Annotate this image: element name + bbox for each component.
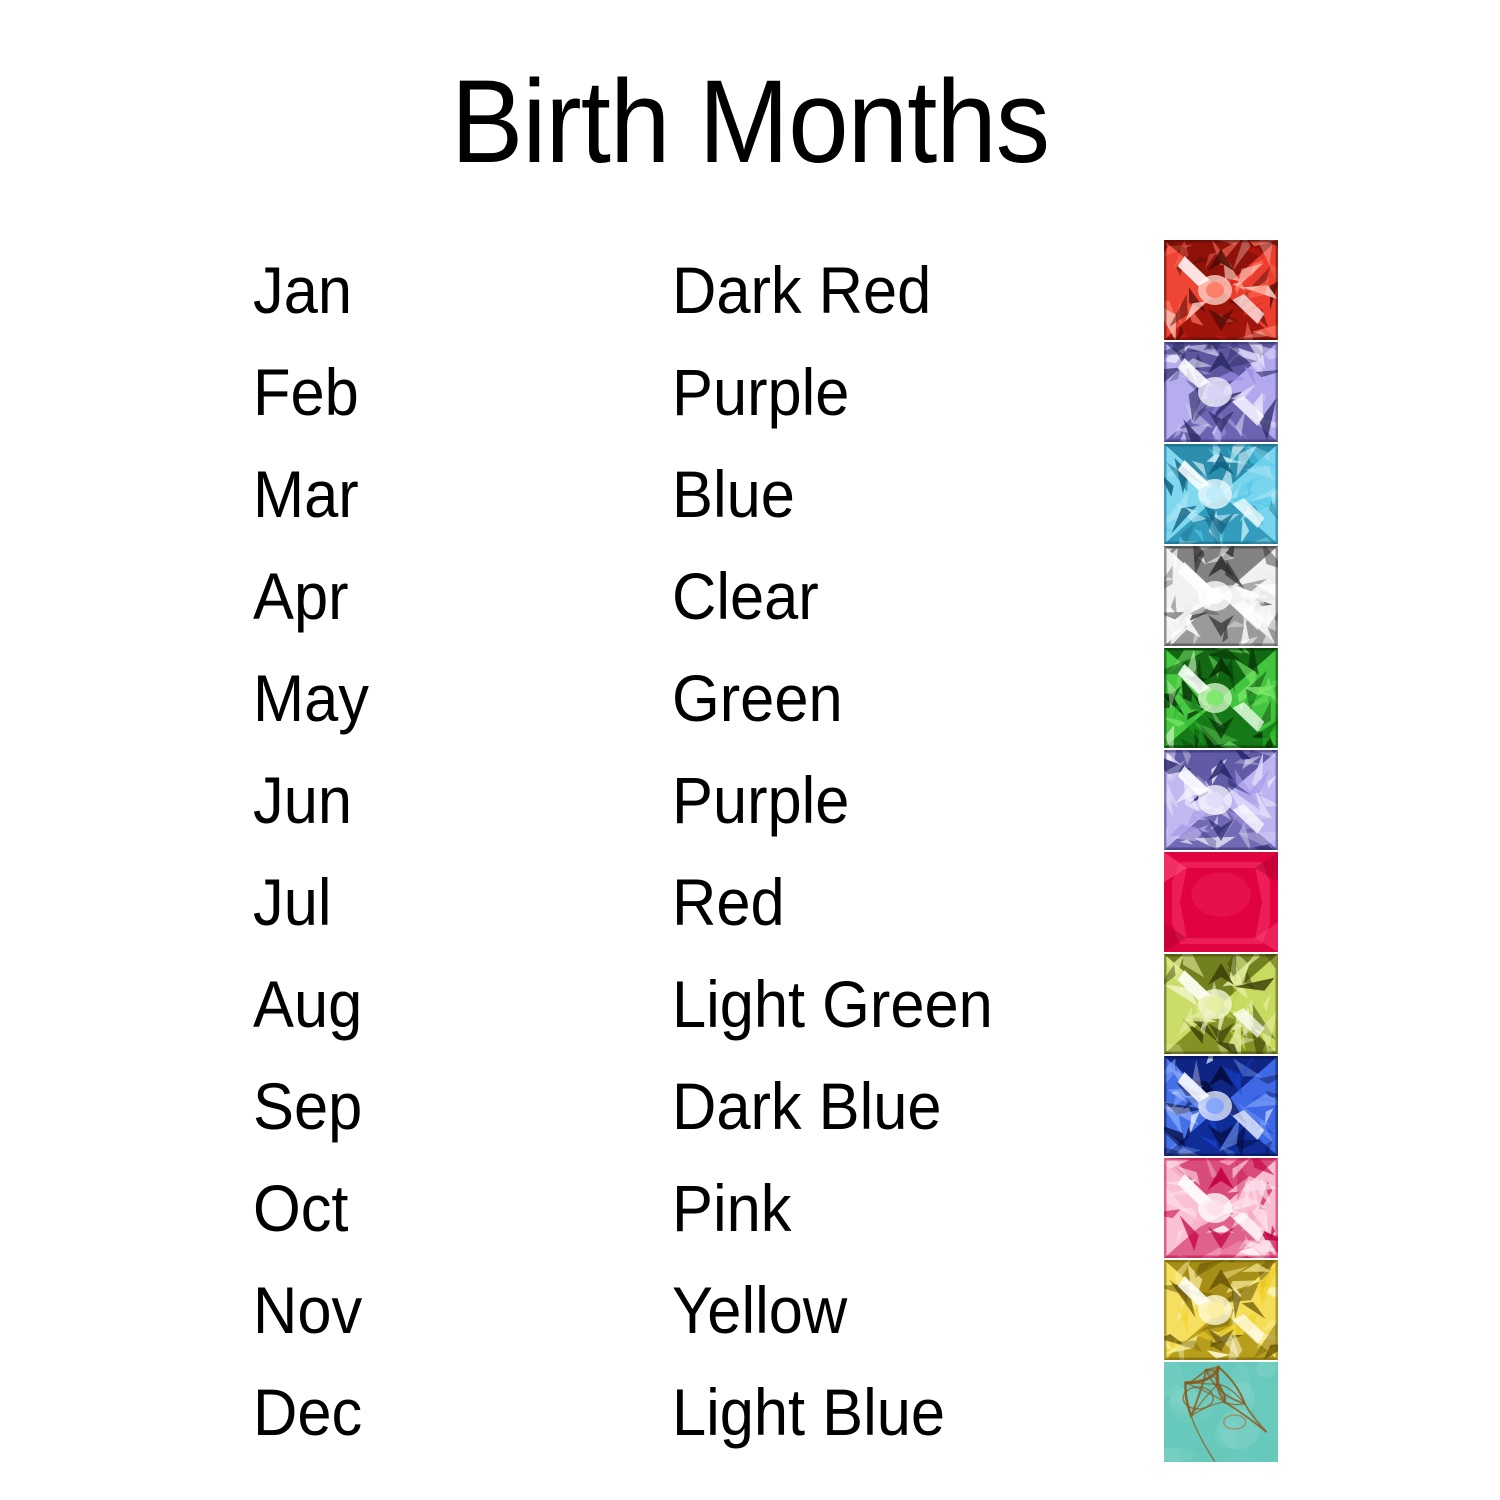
color-label: Dark Blue [672, 1056, 941, 1156]
color-label: Blue [672, 444, 795, 544]
color-label: Light Green [672, 954, 993, 1054]
month-label: Jan [253, 240, 352, 340]
month-label: Jun [253, 750, 352, 850]
turquoise-gem [1164, 1362, 1278, 1462]
peridot-gem [1164, 954, 1278, 1054]
table-row: MayGreen [0, 648, 1500, 748]
table-row: MarBlue [0, 444, 1500, 544]
table-row: AugLight Green [0, 954, 1500, 1054]
month-label: Dec [253, 1362, 362, 1462]
table-row: JunPurple [0, 750, 1500, 850]
garnet-gem [1164, 240, 1278, 340]
color-label: Green [672, 648, 843, 748]
sapphire-gem [1164, 1056, 1278, 1156]
month-label: Oct [253, 1158, 348, 1258]
month-label: May [253, 648, 369, 748]
birth-months-table: JanDark RedFebPurpleMarBlueAprClearMayGr… [0, 240, 1500, 1464]
table-row: JulRed [0, 852, 1500, 952]
diamond-gem [1164, 546, 1278, 646]
table-row: FebPurple [0, 342, 1500, 442]
month-label: Sep [253, 1056, 362, 1156]
color-label: Red [672, 852, 785, 952]
month-label: Apr [253, 546, 349, 646]
month-label: Aug [253, 954, 362, 1054]
table-row: JanDark Red [0, 240, 1500, 340]
emerald-gem [1164, 648, 1278, 748]
color-label: Purple [672, 342, 849, 442]
table-row: NovYellow [0, 1260, 1500, 1360]
tourmaline-gem [1164, 1158, 1278, 1258]
color-label: Pink [672, 1158, 791, 1258]
amethyst-gem [1164, 342, 1278, 442]
color-label: Purple [672, 750, 849, 850]
month-label: Jul [253, 852, 331, 952]
month-label: Mar [253, 444, 359, 544]
table-row: SepDark Blue [0, 1056, 1500, 1156]
aquamarine-gem [1164, 444, 1278, 544]
month-label: Nov [253, 1260, 362, 1360]
alexandrite-gem [1164, 750, 1278, 850]
table-row: OctPink [0, 1158, 1500, 1258]
color-label: Clear [672, 546, 819, 646]
table-row: AprClear [0, 546, 1500, 646]
color-label: Yellow [672, 1260, 847, 1360]
month-label: Feb [253, 342, 359, 442]
citrine-gem [1164, 1260, 1278, 1360]
color-label: Dark Red [672, 240, 931, 340]
ruby-gem [1164, 852, 1278, 952]
table-row: DecLight Blue [0, 1362, 1500, 1462]
birth-months-page: Birth Months JanDark RedFebPurpleMarBlue… [0, 0, 1500, 1500]
color-label: Light Blue [672, 1362, 945, 1462]
page-title: Birth Months [60, 62, 1440, 182]
